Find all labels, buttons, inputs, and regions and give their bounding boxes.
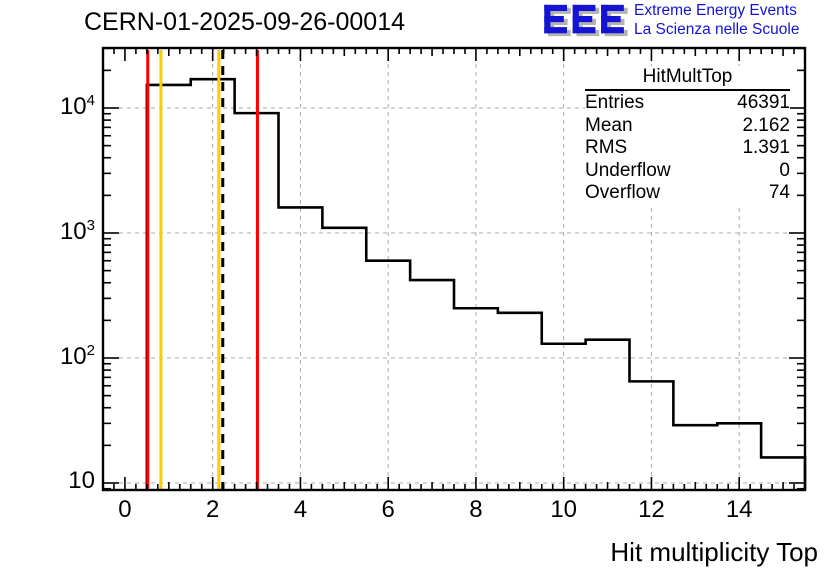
stats-row: Mean2.162 [585, 115, 790, 138]
x-tick-label: 14 [726, 496, 753, 524]
x-tick-label: 0 [118, 496, 131, 524]
stats-row-value: 46391 [737, 92, 790, 115]
x-axis-title: Hit multiplicity Top [610, 537, 818, 568]
stats-divider [585, 89, 790, 91]
stats-row-key: Entries [585, 92, 644, 115]
stats-row: Underflow0 [585, 160, 790, 183]
stats-row-key: Underflow [585, 160, 671, 183]
stats-row: Overflow74 [585, 182, 790, 205]
stats-row: RMS1.391 [585, 137, 790, 160]
y-tick-label: 10 [68, 467, 95, 495]
stats-title: HitMultTop [585, 66, 790, 89]
stats-row: Entries46391 [585, 92, 790, 115]
x-tick-label: 12 [638, 496, 665, 524]
stats-row-value: 1.391 [742, 137, 790, 160]
y-tick-label: 103 [60, 217, 95, 246]
x-tick-label: 2 [206, 496, 219, 524]
y-tick-label: 104 [60, 92, 95, 121]
x-tick-label: 4 [294, 496, 307, 524]
x-tick-label: 8 [469, 496, 482, 524]
stats-row-key: RMS [585, 137, 627, 160]
stats-row-key: Overflow [585, 182, 660, 205]
stats-row-key: Mean [585, 115, 633, 138]
stats-row-value: 2.162 [742, 115, 790, 138]
stats-row-value: 74 [769, 182, 790, 205]
x-tick-label: 6 [382, 496, 395, 524]
stats-row-value: 0 [779, 160, 790, 183]
stats-box: HitMultTop Entries46391Mean2.162RMS1.391… [585, 66, 790, 205]
x-tick-label: 10 [550, 496, 577, 524]
plot-canvas: CERN-01-2025-09-26-00014 Extreme Energy … [0, 0, 836, 572]
y-tick-label: 102 [60, 342, 95, 371]
